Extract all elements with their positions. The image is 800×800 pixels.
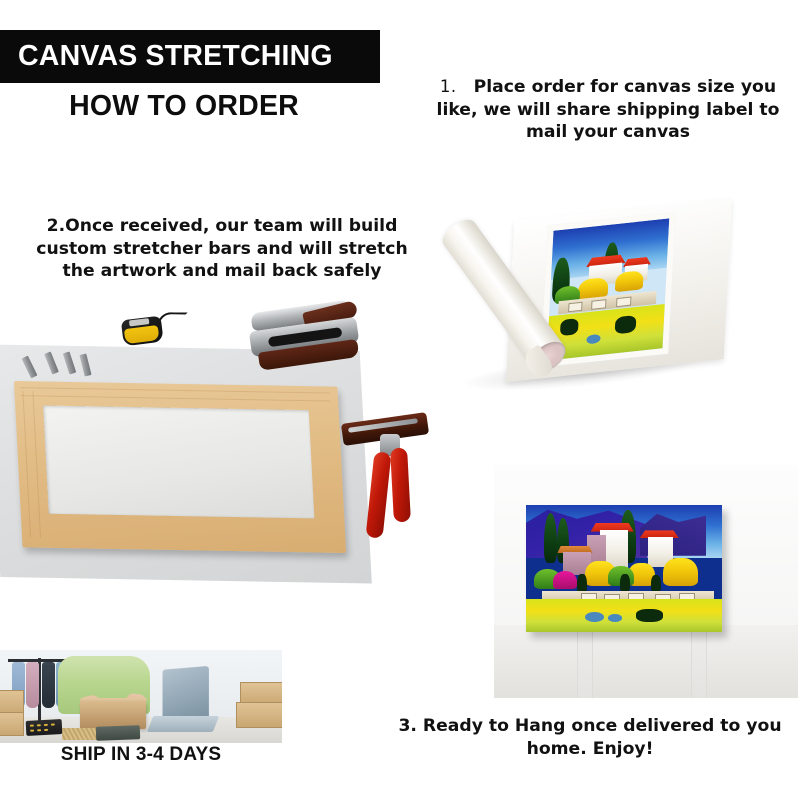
calculator-key <box>30 725 34 727</box>
calculator-key <box>37 724 41 726</box>
magenta-foliage <box>553 571 577 589</box>
blue-flower <box>608 614 622 622</box>
canvas-pliers <box>342 418 434 560</box>
calculator-key <box>37 729 41 731</box>
tape-measure <box>120 312 163 347</box>
step-2-caption: 2.Once received, our team will build cus… <box>32 215 412 283</box>
pliers-handle <box>390 448 411 523</box>
foliage-stroke <box>636 609 663 622</box>
calculator <box>26 719 63 736</box>
wood-grain <box>21 395 331 401</box>
step-1-caption: 1.Place order for canvas size you like, … <box>432 76 784 144</box>
stacked-box <box>0 712 24 736</box>
page-title: CANVAS STRETCHING <box>18 40 333 73</box>
wood-grain <box>32 391 41 537</box>
rolled-canvas-photo <box>440 182 798 430</box>
wood-grain <box>20 387 330 393</box>
header-banner: CANVAS STRETCHING <box>0 30 380 83</box>
calculator-key <box>44 724 48 726</box>
calculator-key <box>44 729 48 731</box>
step-3-caption: 3. Ready to Hang once delivered to you h… <box>385 715 795 760</box>
packing-photo <box>0 650 282 743</box>
sofa-cushion <box>706 625 798 698</box>
laptop-base <box>147 716 219 732</box>
stretched-canvas-surface <box>43 406 314 519</box>
ship-time-label: SHIP IN 3-4 DAYS <box>0 744 282 766</box>
stacked-box <box>236 702 282 728</box>
hanging-cloth <box>42 662 55 708</box>
step-1-number: 1. <box>440 77 474 96</box>
hanging-canvas-photo <box>494 465 798 698</box>
calculator-key <box>30 730 34 732</box>
wood-grain <box>22 391 31 537</box>
step-1-text: Place order for canvas size you like, we… <box>437 77 780 142</box>
sofa <box>494 625 798 698</box>
page-subtitle: HOW TO ORDER <box>0 90 368 123</box>
tablet-device <box>96 725 140 741</box>
laptop-screen <box>163 666 209 722</box>
hanging-cloth <box>26 662 39 708</box>
stretcher-bar-frame <box>14 381 346 553</box>
artwork-landscape <box>526 505 722 632</box>
sofa-cushion <box>592 625 692 698</box>
stretcher-frame-photo <box>0 300 440 630</box>
sofa-cushion <box>494 625 578 698</box>
hanging-canvas-artwork <box>526 505 722 632</box>
yellow-foliage <box>663 558 698 586</box>
pliers-handle <box>366 451 392 538</box>
artwork-foreground <box>526 599 722 632</box>
calculator-key <box>51 723 55 725</box>
blue-flower <box>585 612 605 622</box>
